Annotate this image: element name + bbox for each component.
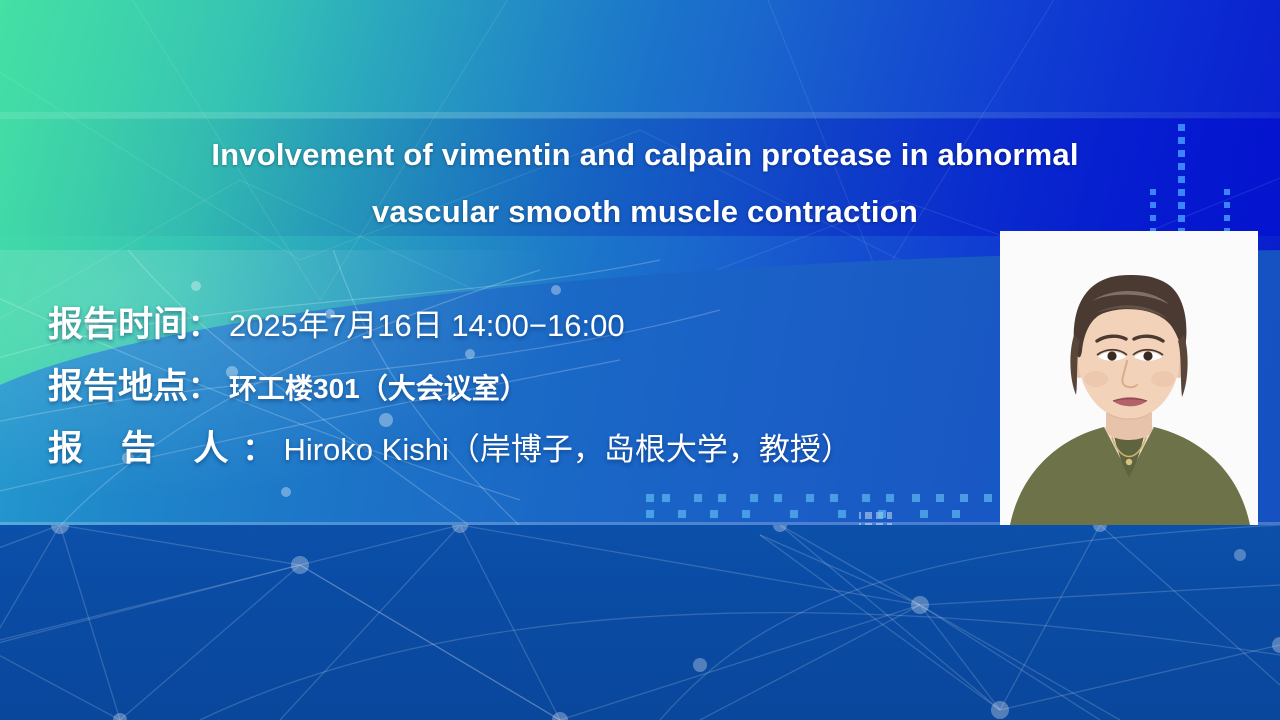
location-label: 报告地点 bbox=[48, 358, 188, 409]
detail-row-time: 报告时间 ： 2025年7月16日 14:00−16:00 bbox=[48, 296, 1008, 358]
time-label: 报告时间 bbox=[48, 296, 188, 347]
bottom-plate bbox=[0, 525, 1280, 720]
title-line-1: Involvement of vimentin and calpain prot… bbox=[90, 126, 1200, 183]
seminar-poster: Involvement of vimentin and calpain prot… bbox=[0, 0, 1280, 720]
detail-row-location: 报告地点 ： 环工楼301（大会议室） bbox=[48, 358, 1008, 420]
speaker-colon: ： bbox=[242, 424, 273, 469]
speaker-photo-frame bbox=[1000, 231, 1258, 525]
speaker-value: Hiroko Kishi（岸博子，岛根大学，教授） bbox=[283, 424, 851, 469]
time-colon: ： bbox=[188, 300, 219, 345]
location-colon: ： bbox=[188, 362, 219, 407]
page-title: Involvement of vimentin and calpain prot… bbox=[90, 126, 1200, 240]
speaker-label: 报 告 人 bbox=[48, 420, 242, 471]
location-value: 环工楼301（大会议室） bbox=[229, 367, 528, 407]
speaker-photo bbox=[1000, 231, 1258, 525]
time-value: 2025年7月16日 14:00−16:00 bbox=[229, 300, 625, 345]
detail-row-speaker: 报 告 人 ： Hiroko Kishi（岸博子，岛根大学，教授） bbox=[48, 420, 1008, 482]
seminar-details: 报告时间 ： 2025年7月16日 14:00−16:00 报告地点 ： 环工楼… bbox=[48, 296, 1008, 482]
